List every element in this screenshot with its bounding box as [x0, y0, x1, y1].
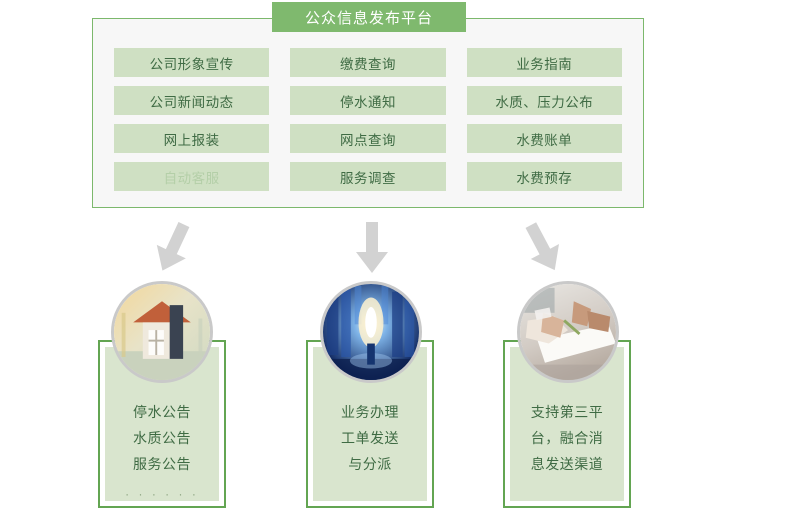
platform-title-banner: 公众信息发布平台: [272, 2, 466, 32]
service-cell-company-image[interactable]: 公司形象宣传: [114, 48, 269, 77]
house-photo: [111, 281, 213, 383]
diagram-canvas: 公司形象宣传 缴费查询 业务指南 公司新闻动态 停水通知 水质、压力公布 网上报…: [0, 0, 786, 526]
service-cell-service-survey[interactable]: 服务调查: [290, 162, 445, 191]
card-line: 业务办理: [341, 399, 399, 425]
service-cell-branch-query[interactable]: 网点查询: [290, 124, 445, 153]
service-cell-outage-notice[interactable]: 停水通知: [290, 86, 445, 115]
service-cell-payment-query[interactable]: 缴费查询: [290, 48, 445, 77]
card-line: 与分派: [348, 451, 392, 477]
service-cell-online-application[interactable]: 网上报装: [114, 124, 269, 153]
service-cell-company-news[interactable]: 公司新闻动态: [114, 86, 269, 115]
card-line: 息发送渠道: [531, 451, 604, 477]
card-line: 支持第三平: [531, 399, 604, 425]
arrow-down-right-icon: [516, 217, 570, 279]
service-grid: 公司形象宣传 缴费查询 业务指南 公司新闻动态 停水通知 水质、压力公布 网上报…: [93, 19, 643, 207]
service-cell-water-bill[interactable]: 水费账单: [467, 124, 622, 153]
card-line: 工单发送: [341, 425, 399, 451]
service-cell-prepaid-water-fee[interactable]: 水费预存: [467, 162, 622, 191]
service-cell-auto-service[interactable]: 自动客服: [114, 162, 269, 191]
platform-panel: 公司形象宣传 缴费查询 业务指南 公司新闻动态 停水通知 水质、压力公布 网上报…: [92, 18, 644, 208]
technology-photo: [320, 281, 422, 383]
card-ellipsis: · · · · · ·: [125, 487, 199, 501]
service-cell-business-guide[interactable]: 业务指南: [467, 48, 622, 77]
card-line: 服务公告: [133, 451, 191, 477]
card-line: 停水公告: [133, 399, 191, 425]
service-cell-water-quality-pressure[interactable]: 水质、压力公布: [467, 86, 622, 115]
handshake-documents-photo: [517, 281, 619, 383]
card-line: 台，融合消: [531, 425, 604, 451]
arrow-down-icon: [355, 222, 389, 274]
arrow-down-left-icon: [147, 217, 200, 278]
card-line: 水质公告: [133, 425, 191, 451]
